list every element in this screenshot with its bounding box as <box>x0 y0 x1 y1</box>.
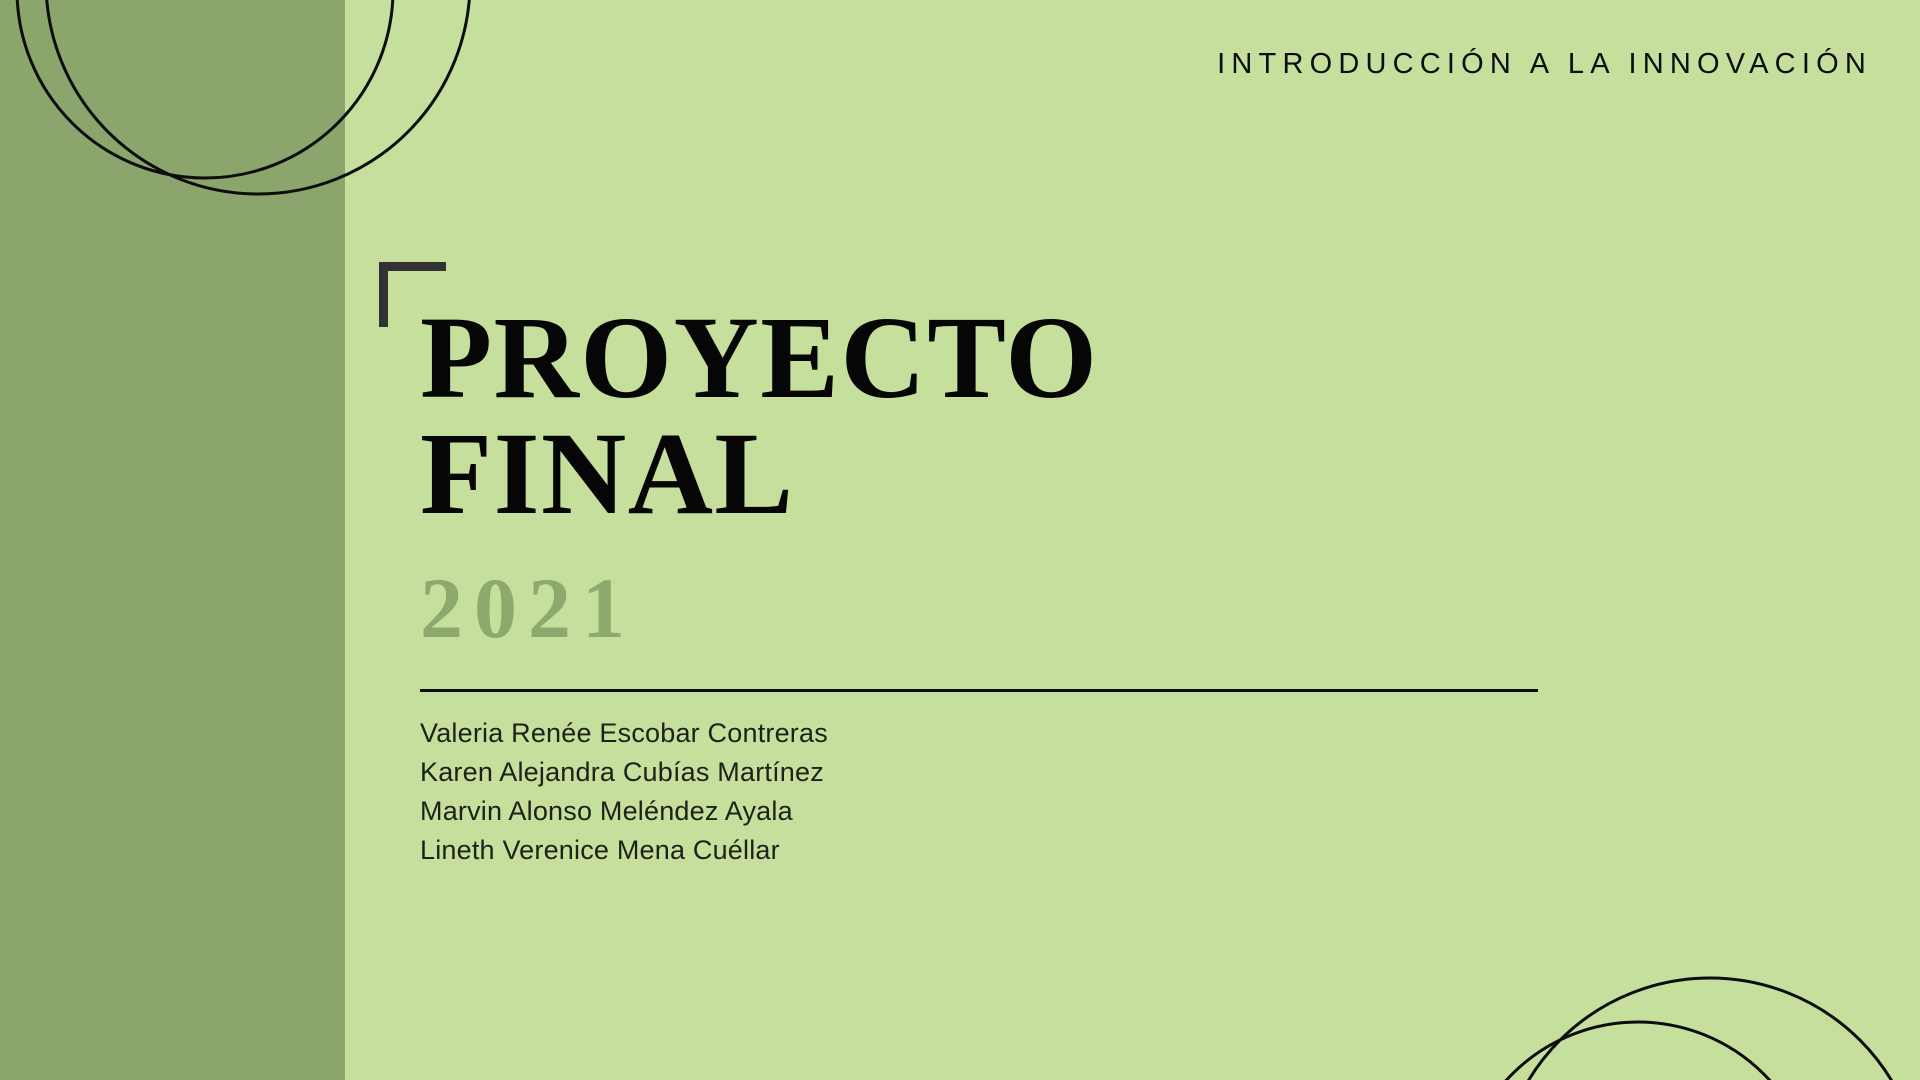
page-title-line-2: FINAL <box>420 416 1600 532</box>
list-item: Lineth Verenice Mena Cuéllar <box>420 831 1600 870</box>
list-item: Valeria Renée Escobar Contreras <box>420 714 1600 753</box>
list-item: Karen Alejandra Cubías Martínez <box>420 753 1600 792</box>
bottom-right-circles-decoration <box>1420 900 1920 1080</box>
author-list: Valeria Renée Escobar Contreras Karen Al… <box>420 714 1600 870</box>
slide-eyebrow-course-title: INTRODUCCIÓN A LA INNOVACIÓN <box>1217 48 1872 81</box>
decorative-circle-outline <box>1498 978 1920 1080</box>
left-color-band <box>0 0 345 1080</box>
slide-year: 2021 <box>420 565 1600 651</box>
list-item: Marvin Alonso Meléndez Ayala <box>420 792 1600 831</box>
presentation-slide: INTRODUCCIÓN A LA INNOVACIÓN PROYECTO FI… <box>0 0 1920 1080</box>
divider-rule <box>420 689 1538 692</box>
page-title-line-1: PROYECTO <box>420 300 1600 416</box>
title-content-block: PROYECTO FINAL 2021 Valeria Renée Escoba… <box>420 300 1600 886</box>
decorative-circle-outline <box>1460 1022 1816 1080</box>
page-title: PROYECTO FINAL <box>420 300 1600 531</box>
